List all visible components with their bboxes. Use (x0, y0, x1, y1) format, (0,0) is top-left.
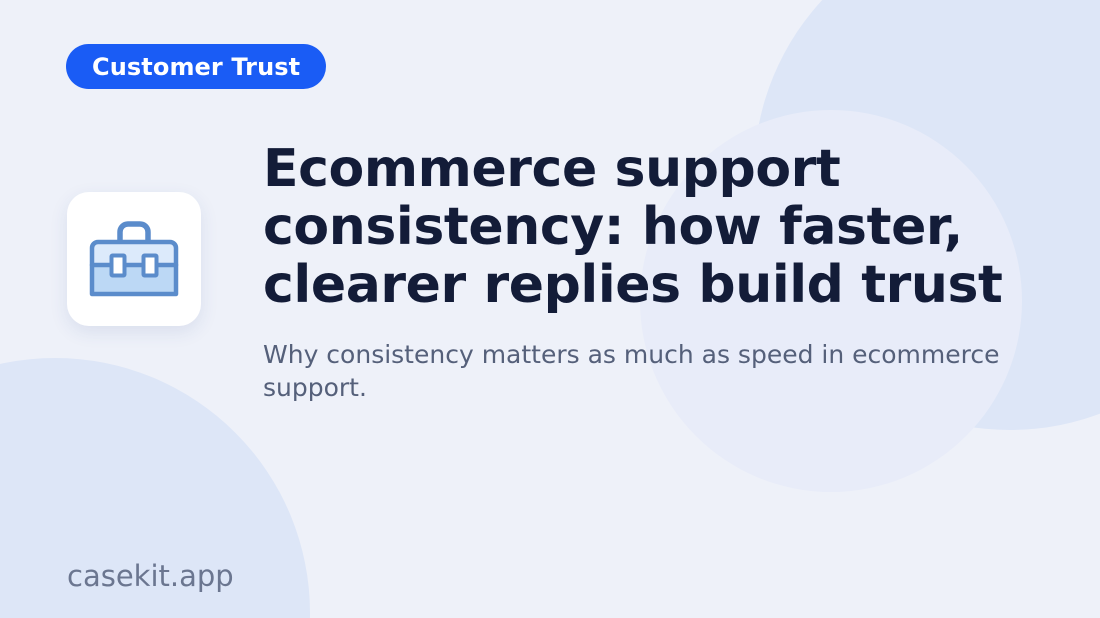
brand-footer: casekit.app (67, 558, 234, 594)
page-title: Ecommerce support consistency: how faste… (263, 140, 1023, 314)
slide-canvas: Customer Trust Ecommerce support (0, 0, 1100, 618)
category-badge-label: Customer Trust (92, 55, 300, 79)
briefcase-icon (86, 216, 182, 302)
page-subtitle: Why consistency matters as much as speed… (263, 314, 1008, 404)
icon-card (67, 192, 201, 326)
category-badge[interactable]: Customer Trust (66, 44, 326, 89)
hero-text-column: Ecommerce support consistency: how faste… (263, 140, 1023, 404)
